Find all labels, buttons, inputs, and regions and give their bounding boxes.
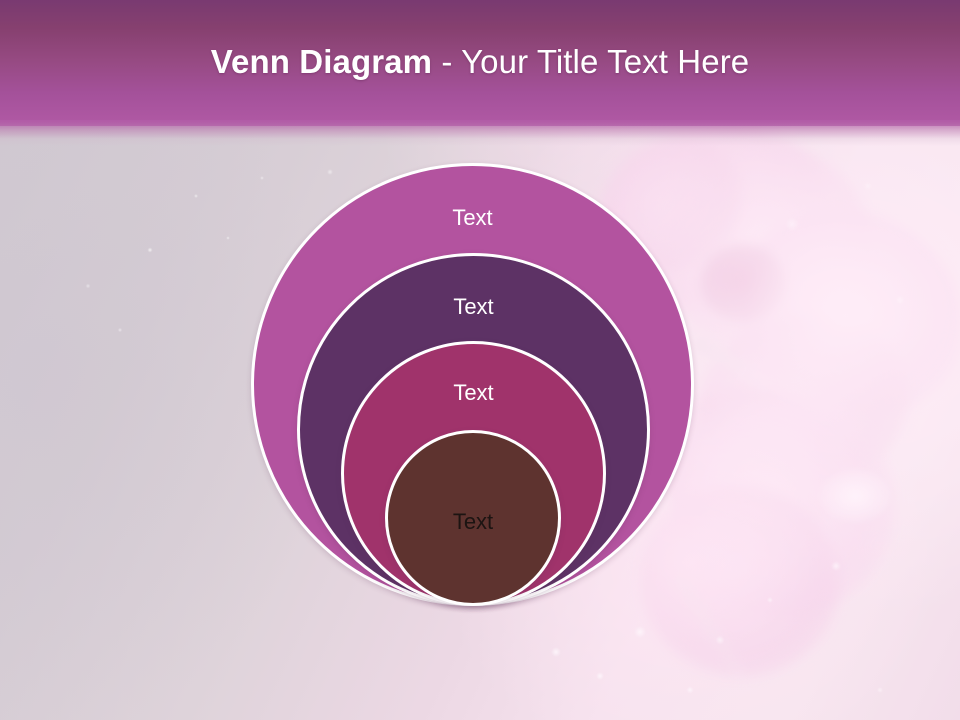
venn-circle-2-label: Text xyxy=(300,294,647,320)
page-title-rest: Your Title Text Here xyxy=(461,43,749,80)
page-title-bold: Venn Diagram xyxy=(211,43,432,80)
venn-circle-1-label: Text xyxy=(254,205,691,231)
page-title-separator: - xyxy=(432,43,461,80)
venn-circle-4[interactable]: Text xyxy=(385,430,561,606)
slide-canvas: Text Text Text Text Venn Diagram - Your … xyxy=(0,0,960,720)
venn-circle-3-label: Text xyxy=(344,380,603,406)
page-title: Venn Diagram - Your Title Text Here xyxy=(0,40,960,84)
venn-circle-4-label: Text xyxy=(388,509,558,535)
title-bar-fade xyxy=(0,120,960,146)
